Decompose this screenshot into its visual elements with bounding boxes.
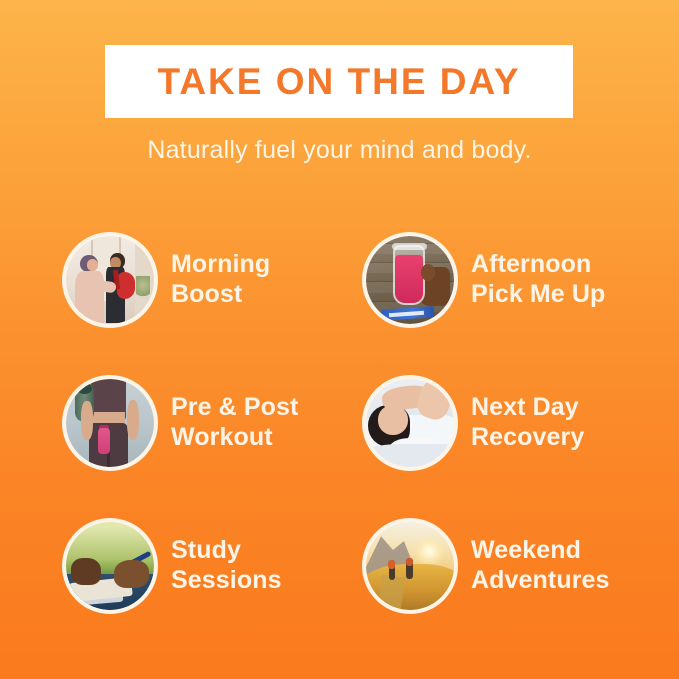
pre-post-workout-photo-icon: [62, 375, 158, 471]
benefits-grid: Morning Boost Afternoon Pick Me Up: [62, 208, 662, 637]
benefit-item-weekend-adventures: Weekend Adventures: [362, 494, 652, 637]
benefit-label-line1: Morning: [171, 250, 270, 280]
title-banner: TAKE ON THE DAY: [105, 45, 573, 118]
benefit-label: Afternoon Pick Me Up: [471, 250, 605, 309]
benefit-label-line2: Adventures: [471, 566, 610, 596]
page-title: TAKE ON THE DAY: [157, 63, 520, 100]
benefit-item-afternoon-pick-me-up: Afternoon Pick Me Up: [362, 208, 652, 351]
benefit-item-pre-post-workout: Pre & Post Workout: [62, 351, 352, 494]
benefit-label-line2: Boost: [171, 280, 270, 310]
benefit-item-morning-boost: Morning Boost: [62, 208, 352, 351]
benefit-label: Weekend Adventures: [471, 536, 610, 595]
benefit-label-line1: Next Day: [471, 393, 584, 423]
benefit-label-line2: Workout: [171, 423, 298, 453]
morning-boost-photo-icon: [62, 232, 158, 328]
benefit-item-next-day-recovery: Next Day Recovery: [362, 351, 652, 494]
promo-poster: TAKE ON THE DAY Naturally fuel your mind…: [0, 0, 679, 679]
benefit-label-line1: Pre & Post: [171, 393, 298, 423]
benefit-label: Next Day Recovery: [471, 393, 584, 452]
benefit-label: Study Sessions: [171, 536, 282, 595]
study-sessions-photo-icon: [62, 518, 158, 614]
benefit-label-line1: Afternoon: [471, 250, 605, 280]
benefit-label-line1: Study: [171, 536, 282, 566]
afternoon-pick-me-up-photo-icon: [362, 232, 458, 328]
benefit-label-line2: Sessions: [171, 566, 282, 596]
benefit-item-study-sessions: Study Sessions: [62, 494, 352, 637]
benefit-label: Pre & Post Workout: [171, 393, 298, 452]
benefit-label: Morning Boost: [171, 250, 270, 309]
benefit-label-line1: Weekend: [471, 536, 610, 566]
weekend-adventures-photo-icon: [362, 518, 458, 614]
benefit-label-line2: Recovery: [471, 423, 584, 453]
subtitle: Naturally fuel your mind and body.: [0, 135, 679, 165]
next-day-recovery-photo-icon: [362, 375, 458, 471]
benefit-label-line2: Pick Me Up: [471, 280, 605, 310]
